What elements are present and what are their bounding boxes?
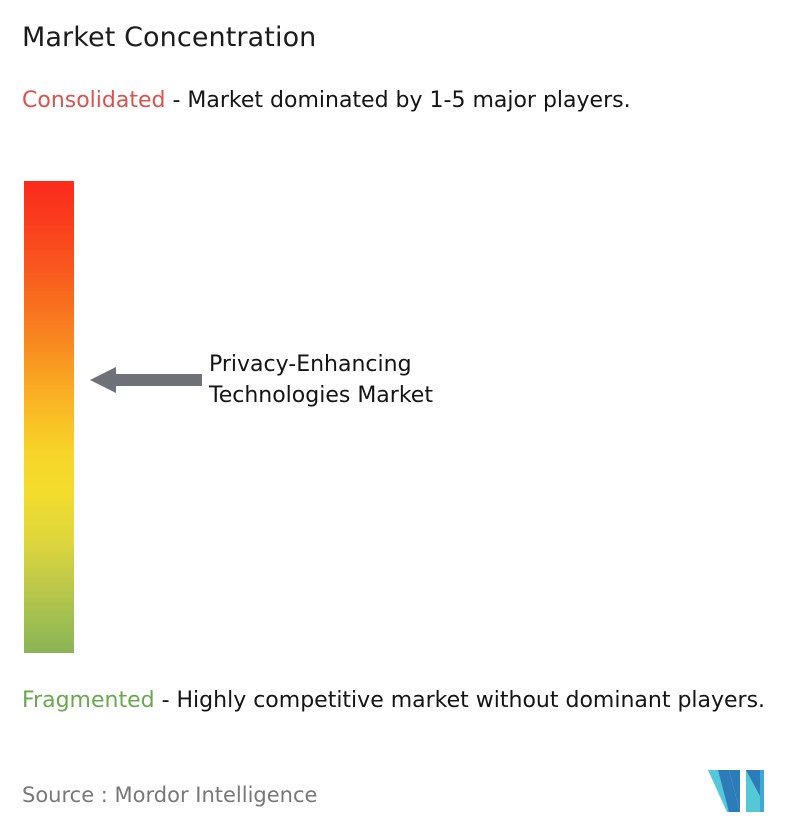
concentration-gradient-bar (24, 181, 74, 653)
source-attribution: Source : Mordor Intelligence (22, 780, 317, 810)
legend-description-consolidated: - Market dominated by 1-5 major players. (165, 88, 630, 113)
legend-consolidated: Consolidated - Market dominated by 1-5 m… (22, 85, 782, 117)
legend-fragmented: Fragmented - Highly competitive market w… (22, 685, 782, 717)
market-pointer-arrow-icon (90, 364, 202, 396)
mordor-intelligence-logo-icon (708, 768, 772, 814)
page-title: Market Concentration (22, 20, 316, 56)
legend-description-fragmented: - Highly competitive market without domi… (155, 688, 765, 713)
legend-term-consolidated: Consolidated (22, 88, 165, 113)
market-pointer-label: Privacy-Enhancing Technologies Market (209, 349, 433, 411)
chart-canvas: Market Concentration Consolidated - Mark… (0, 0, 796, 834)
legend-term-fragmented: Fragmented (22, 688, 155, 713)
